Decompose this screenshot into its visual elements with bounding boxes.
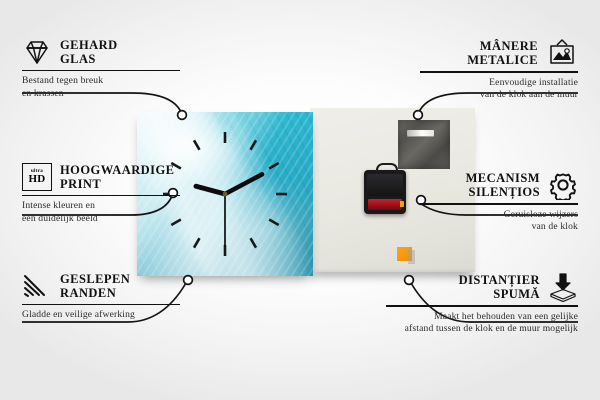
callout-description: Intense kleuren en een duidelijk beeld <box>22 200 212 226</box>
callout-description: Geruisloze wijzers van de klok <box>398 209 578 235</box>
callout-header: GEHARD GLAS <box>22 38 202 67</box>
callout-rule <box>22 195 180 197</box>
callout-description: Gladde en veilige afwerking <box>22 309 207 322</box>
callout-description: Eenvoudige installatie van de klok aan d… <box>398 77 578 103</box>
connector-dot-manere-metalice <box>414 111 423 120</box>
infographic-canvas: GEHARD GLAS Bestand tegen breuk en krass… <box>0 0 600 400</box>
callout-title: GEHARD GLAS <box>60 38 118 67</box>
callout-rule <box>420 71 578 73</box>
callout-title: DISTANȚIER SPUMĂ <box>459 273 540 302</box>
callout-rule <box>22 70 180 72</box>
gear-icon <box>548 170 578 200</box>
callout-rule <box>22 304 180 306</box>
callout-description: Maakt het behouden van een gelijke afsta… <box>368 311 578 337</box>
callout-rule <box>420 203 578 205</box>
callout-mecanism-silentios: MECANISM SILENȚIOS Geruisloze wijzers va… <box>398 170 578 234</box>
callout-hoogwaardige-print: ultra HD HOOGWAARDIGE PRINT Intense kleu… <box>22 163 212 226</box>
callout-header: ultra HD HOOGWAARDIGE PRINT <box>22 163 212 192</box>
callout-title: MÂNERE METALICE <box>467 39 538 68</box>
ultra-hd-icon: ultra HD <box>22 163 52 191</box>
callout-rule <box>386 305 578 307</box>
callout-manere-metalice: MÂNERE METALICE Eenvoudige installatie v… <box>398 38 578 102</box>
beveled-edges-icon <box>22 273 52 299</box>
callout-header: MECANISM SILENȚIOS <box>398 170 578 200</box>
callout-title: GESLEPEN RANDEN <box>60 272 130 301</box>
callout-title: HOOGWAARDIGE PRINT <box>60 163 174 192</box>
callout-title: MECANISM SILENȚIOS <box>466 171 540 200</box>
callout-header: MÂNERE METALICE <box>398 38 578 68</box>
callout-geslepen-randen: GESLEPEN RANDEN Gladde en veilige afwerk… <box>22 272 207 322</box>
callout-gehard-glas: GEHARD GLAS Bestand tegen breuk en krass… <box>22 38 202 101</box>
callout-distantier-spuma: DISTANȚIER SPUMĂ Maakt het behouden van … <box>368 272 578 336</box>
spacer-press-icon <box>548 272 578 302</box>
hanging-frame-icon <box>546 38 578 68</box>
diamond-icon <box>22 38 52 66</box>
callout-description: Bestand tegen breuk en krassen <box>22 75 202 101</box>
connector-dot-gehard-glas <box>178 111 187 120</box>
callout-header: DISTANȚIER SPUMĂ <box>368 272 578 302</box>
callout-header: GESLEPEN RANDEN <box>22 272 207 301</box>
